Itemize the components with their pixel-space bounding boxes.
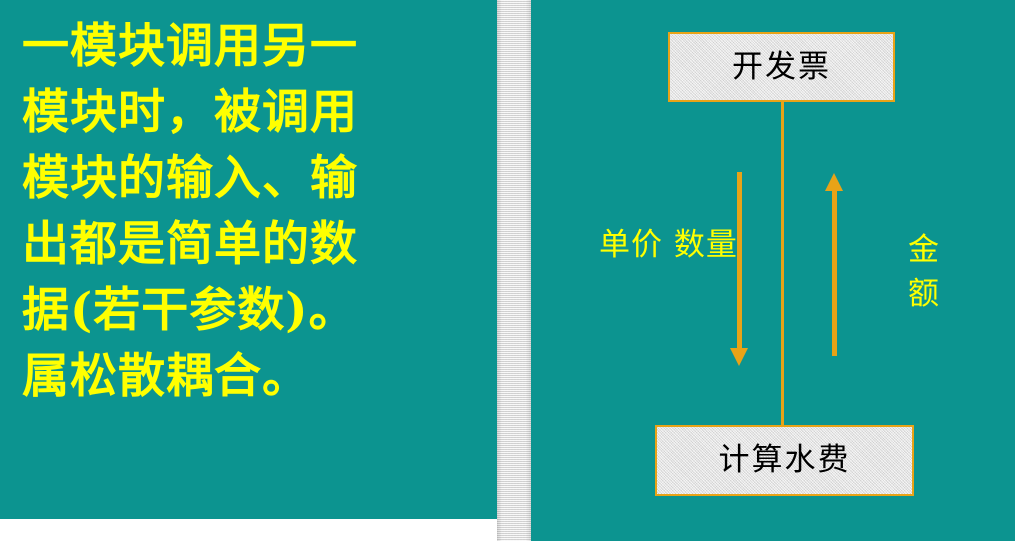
up-arrow-shaft	[832, 190, 837, 356]
down-arrow-label-line2: 数量	[674, 227, 738, 263]
diagram-node-top-label: 开发票	[732, 52, 831, 83]
left-paragraph: 一模块调用另一 模块时，被调用 模块的输入、输 出都是简单的数 据(若干参数)。…	[0, 0, 497, 519]
diagram-node-bottom: 计算水费	[655, 425, 914, 496]
divider-shadow-left	[497, 0, 502, 541]
down-arrow-label: 单价 数量	[599, 223, 738, 267]
diagram-panel: 开发票 计算水费 单价 数量 金 额	[531, 0, 1015, 541]
left-text-line: 出都是简单的数	[22, 212, 475, 278]
up-arrow-label-line2: 额	[907, 272, 941, 316]
left-text-line: 模块时，被调用	[22, 80, 475, 146]
connector-stem	[781, 102, 784, 425]
up-arrow-head	[825, 173, 843, 191]
left-text-line: 据(若干参数)。	[22, 278, 475, 344]
slide-canvas: 一模块调用另一 模块时，被调用 模块的输入、输 出都是简单的数 据(若干参数)。…	[0, 0, 1015, 541]
diagram-node-bottom-label: 计算水费	[719, 445, 851, 476]
left-text-line: 模块的输入、输	[22, 146, 475, 212]
up-arrow-label-line1: 金	[907, 228, 941, 272]
down-arrow-label-line1: 单价	[599, 227, 663, 263]
down-arrow-head	[730, 348, 748, 366]
diagram-node-top: 开发票	[668, 32, 895, 102]
left-panel-bottom-strip	[0, 519, 497, 541]
up-arrow-label: 金 额	[907, 228, 941, 316]
left-text-line: 一模块调用另一	[22, 14, 475, 80]
left-text-panel: 一模块调用另一 模块时，被调用 模块的输入、输 出都是简单的数 据(若干参数)。…	[0, 0, 497, 519]
left-text-line: 属松散耦合。	[22, 344, 475, 410]
